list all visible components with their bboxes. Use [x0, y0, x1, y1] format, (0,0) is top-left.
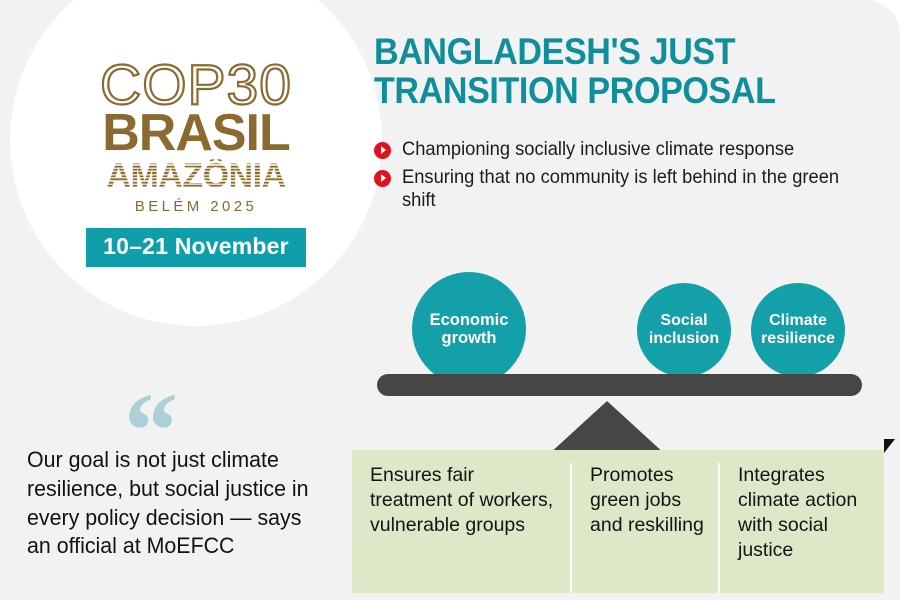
cop30-logo: COP30 BRASIL AMAZÔNIA BELÉM 2025 10–21 N…	[78, 58, 314, 267]
balance-circle-social-inclusion: Social inclusion	[637, 283, 731, 377]
logo-amazonia-text: AMAZÔNIA	[78, 159, 314, 193]
balance-circle-label: Economic growth	[430, 311, 509, 347]
logo-belem-year-text: BELÉM 2025	[78, 198, 314, 215]
chevron-right-bullet-icon	[374, 142, 391, 159]
list-item: Championing socially inclusive climate r…	[374, 138, 874, 161]
infographic-canvas: COP30 BRASIL AMAZÔNIA BELÉM 2025 10–21 N…	[0, 0, 900, 600]
balance-circle-economic-growth: Economic growth	[412, 272, 526, 386]
balance-circle-climate-resilience: Climate resilience	[751, 283, 845, 377]
benefit-column-1: Ensures fair treatment of workers, vulne…	[352, 463, 570, 593]
page-title-line-2: TRANSITION PROPOSAL	[374, 71, 834, 110]
balance-circle-label: Social inclusion	[649, 312, 719, 347]
list-item: Ensuring that no community is left behin…	[374, 166, 874, 212]
list-item-label: Ensuring that no community is left behin…	[402, 166, 846, 212]
chevron-right-bullet-icon	[374, 170, 391, 187]
logo-brasil-text: BRASIL	[78, 110, 314, 158]
balance-circle-label: Climate resilience	[761, 312, 835, 347]
balance-fulcrum-triangle-icon	[548, 401, 666, 455]
page-title-line-1: BANGLADESH'S JUST	[374, 32, 834, 71]
balance-beam	[377, 374, 862, 396]
benefit-column-3: Integrates climate action with social ju…	[718, 463, 884, 593]
list-item-label: Championing socially inclusive climate r…	[402, 138, 846, 161]
corner-arrow-icon	[884, 439, 895, 453]
benefits-panel: Ensures fair treatment of workers, vulne…	[352, 450, 884, 593]
benefit-column-2: Promotes green jobs and reskilling	[570, 463, 718, 593]
logo-date-badge: 10–21 November	[86, 228, 306, 267]
key-points-list: Championing socially inclusive climate r…	[374, 138, 874, 217]
page-title: BANGLADESH'S JUST TRANSITION PROPOSAL	[374, 32, 834, 110]
pull-quote-text: Our goal is not just climate resilience,…	[27, 446, 322, 561]
